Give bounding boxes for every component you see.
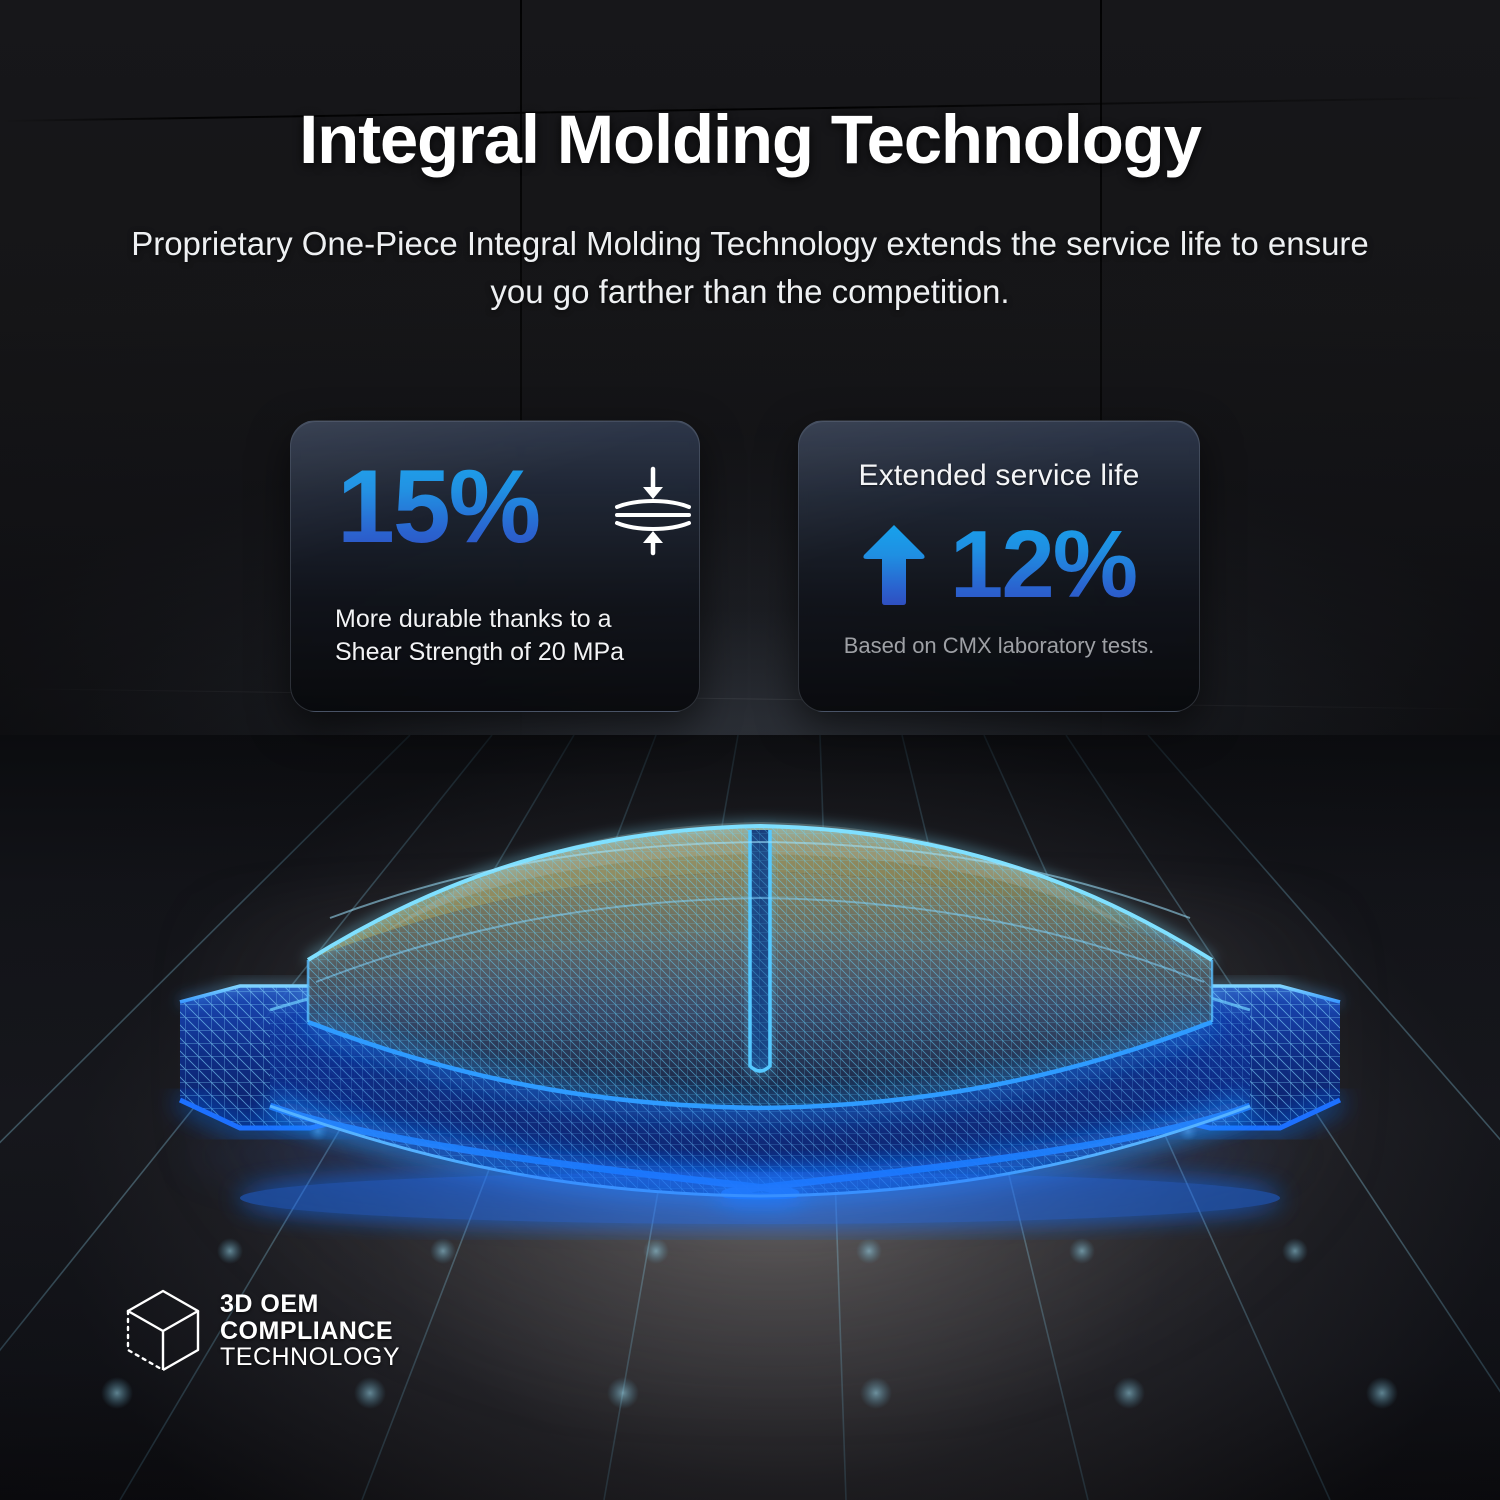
brand-logo-line1: 3D OEM <box>220 1291 400 1318</box>
durability-caption: More durable thanks to a Shear Strength … <box>335 603 665 670</box>
service-life-percentage: 12% <box>950 517 1136 613</box>
compression-arrow-down <box>643 487 663 499</box>
page-title: Integral Molding Technology <box>0 104 1500 176</box>
durability-stat-row: 15% <box>337 455 539 559</box>
compression-icon <box>611 465 695 557</box>
wireframe-cube-icon <box>124 1288 202 1374</box>
service-life-footnote: Based on CMX laboratory tests. <box>799 633 1199 659</box>
stat-card-service-life[interactable]: Extended service life 12% Based on CMX l… <box>798 420 1200 712</box>
brand-logo-line2: COMPLIANCE <box>220 1318 400 1345</box>
brake-pad-wireframe-model <box>120 770 1400 1240</box>
up-arrow-icon <box>862 523 926 607</box>
brand-logo[interactable]: 3D OEM COMPLIANCE TECHNOLOGY <box>124 1288 400 1374</box>
brand-logo-line3: TECHNOLOGY <box>220 1344 400 1371</box>
service-life-stat-row: 12% <box>799 517 1199 613</box>
durability-percentage: 15% <box>337 455 539 559</box>
brake-pad-svg <box>120 770 1400 1240</box>
wall-light-glow <box>0 440 1500 780</box>
page-subtitle: Proprietary One-Piece Integral Molding T… <box>125 220 1375 316</box>
stat-card-durability[interactable]: 15% More durable thanks to a Shear Stren… <box>290 420 700 712</box>
service-life-heading: Extended service life <box>799 459 1199 493</box>
promo-graphic: Integral Molding Technology Proprietary … <box>0 0 1500 1500</box>
friction-material-center-slot <box>750 830 770 1071</box>
brake-pad-contact-glow <box>240 1172 1280 1224</box>
brand-logo-text: 3D OEM COMPLIANCE TECHNOLOGY <box>220 1291 400 1371</box>
